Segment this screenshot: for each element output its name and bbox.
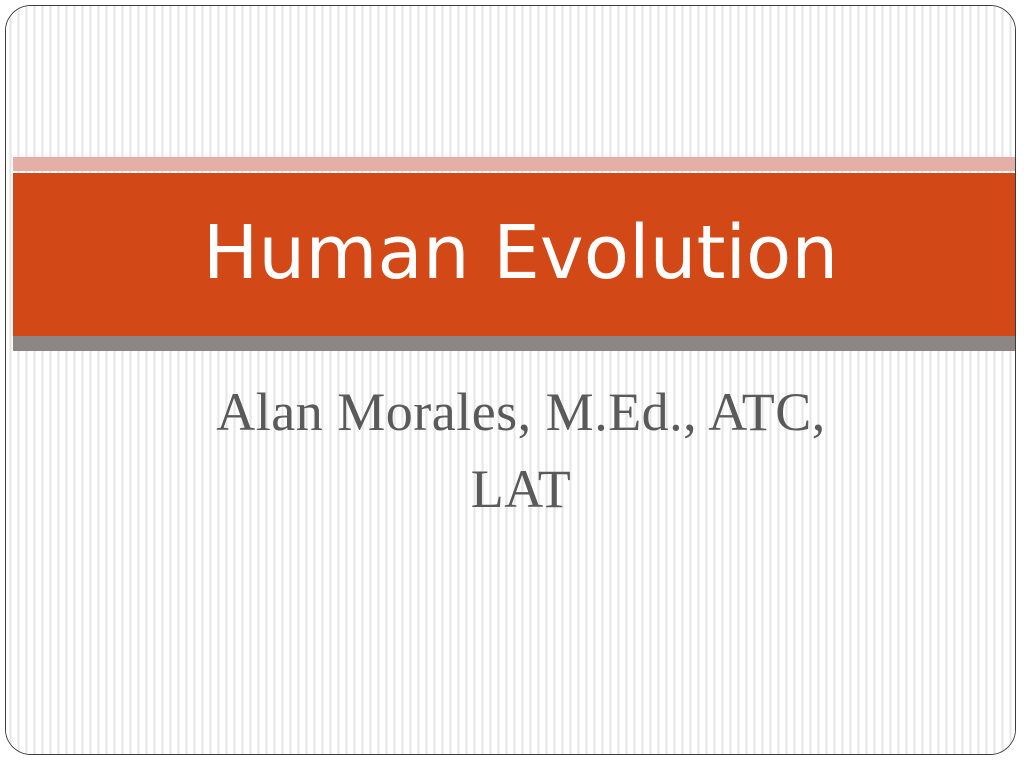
slide-subtitle-line-2: LAT bbox=[126, 451, 916, 528]
slide-title: Human Evolution bbox=[203, 216, 838, 290]
accent-rule-pink bbox=[13, 157, 1016, 171]
accent-rule-gray bbox=[13, 336, 1016, 351]
title-banner: Human Evolution bbox=[13, 173, 1016, 336]
slide-frame: Human Evolution Alan Morales, M.Ed., ATC… bbox=[5, 5, 1016, 755]
subtitle-block: Alan Morales, M.Ed., ATC, LAT bbox=[126, 374, 916, 527]
slide-subtitle-line-1: Alan Morales, M.Ed., ATC, bbox=[126, 374, 916, 451]
presentation-slide: Human Evolution Alan Morales, M.Ed., ATC… bbox=[0, 0, 1024, 768]
